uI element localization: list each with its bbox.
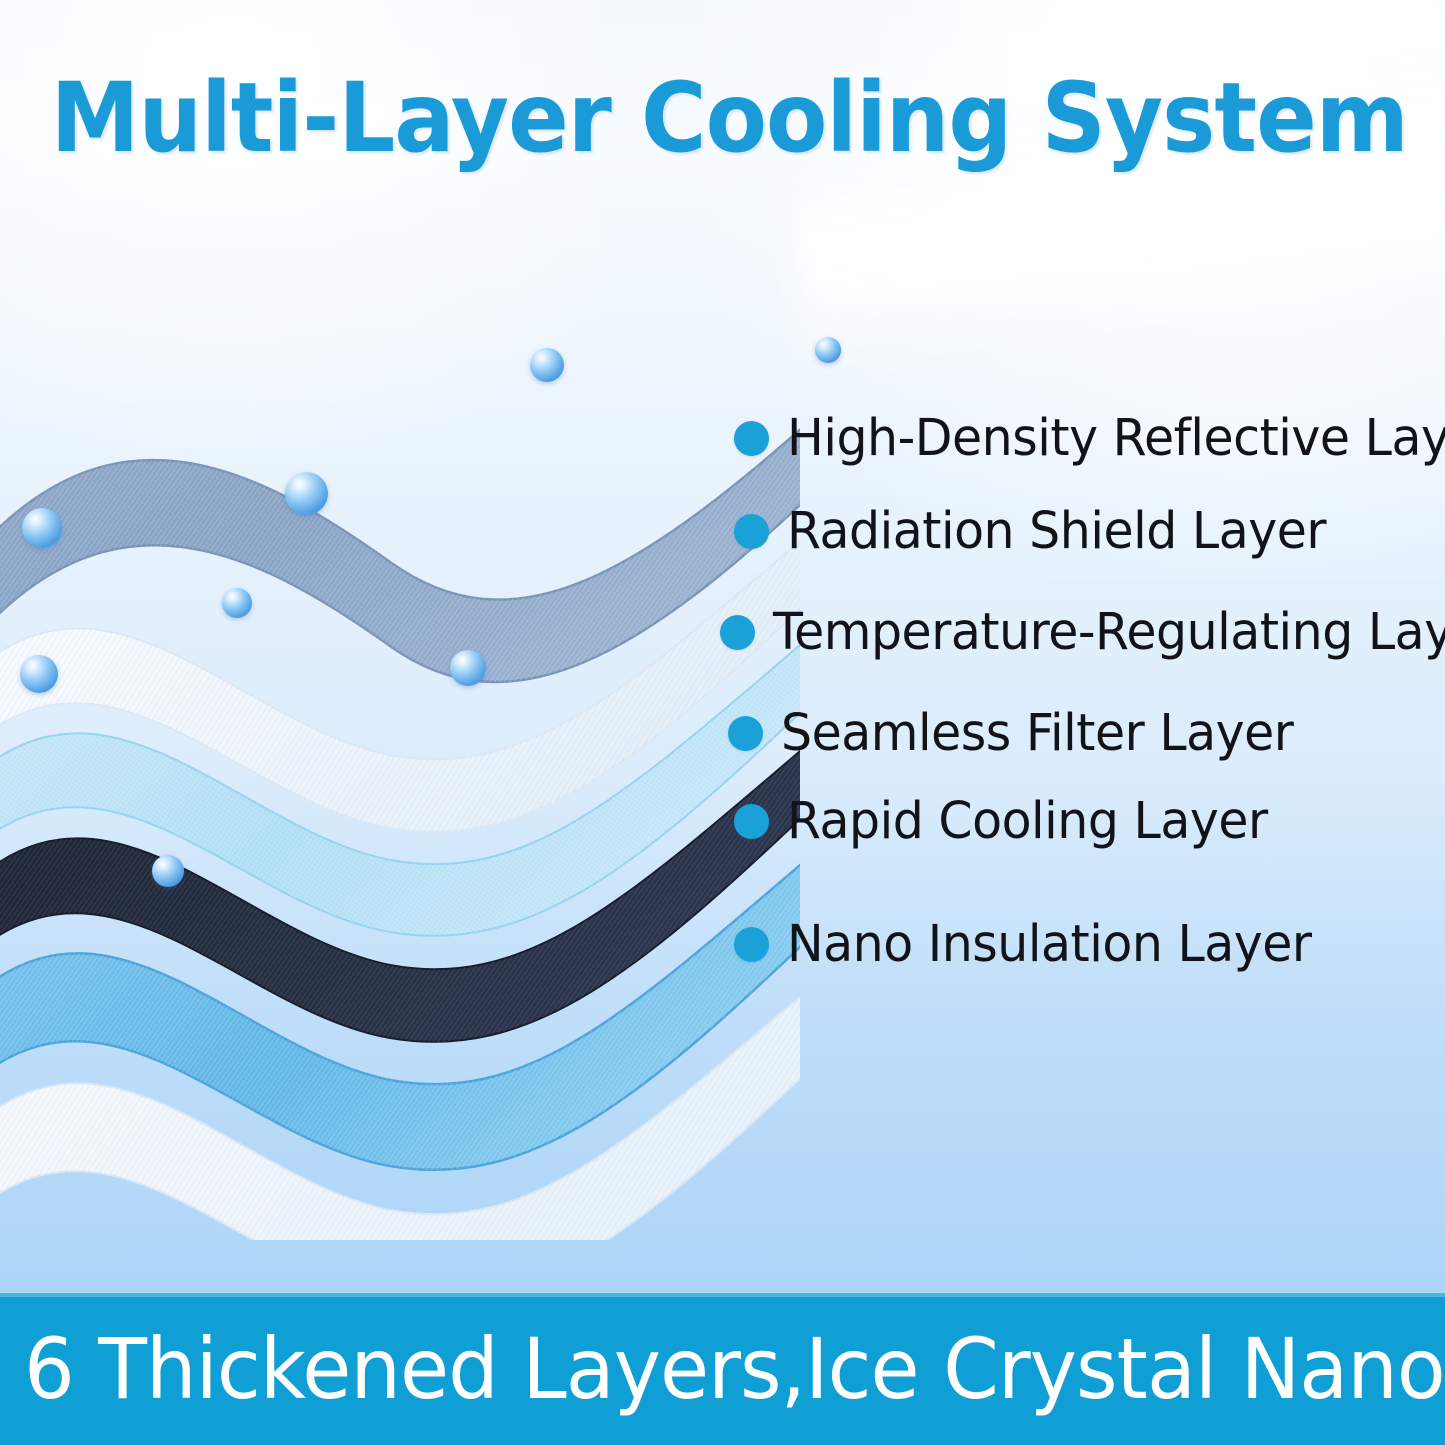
bullet-dot-icon (734, 421, 769, 456)
bullet-dot-icon (734, 804, 769, 839)
water-droplet (20, 655, 58, 693)
bullet-dot-icon (734, 514, 769, 549)
layer-label-item: Radiation Shield Layer (734, 506, 1348, 557)
banner-top-highlight (0, 1293, 1445, 1297)
water-droplet (22, 508, 62, 548)
layer-label-text: Temperature-Regulating Layer (773, 607, 1445, 658)
layer-label-item: Temperature-Regulating Layer (720, 607, 1445, 658)
cooling-system-infographic: Multi-Layer Cooling System (0, 0, 1445, 1445)
water-droplet (530, 348, 564, 382)
banner-text: 6 Thickened Layers,Ice Crystal Nanoh (24, 1327, 1445, 1411)
bullet-dot-icon (728, 716, 763, 751)
water-droplet (450, 650, 486, 686)
layer-label-text: Radiation Shield Layer (787, 506, 1326, 557)
layer-label-text: Rapid Cooling Layer (787, 796, 1268, 847)
fabric-layers-illustration (0, 300, 800, 1240)
water-droplet (222, 588, 252, 618)
bottom-banner: 6 Thickened Layers,Ice Crystal Nanoh (0, 1293, 1445, 1445)
layer-label-item: High-Density Reflective Layer (734, 413, 1445, 464)
layer-label-text: Nano Insulation Layer (787, 919, 1312, 970)
layer-label-text: High-Density Reflective Layer (787, 413, 1445, 464)
layer-label-text: Seamless Filter Layer (781, 708, 1293, 759)
water-droplet (152, 855, 184, 887)
layer-label-item: Seamless Filter Layer (728, 708, 1315, 759)
layer-label-item: Nano Insulation Layer (734, 919, 1333, 970)
layer-label-item: Rapid Cooling Layer (734, 796, 1288, 847)
bullet-dot-icon (734, 927, 769, 962)
bullet-dot-icon (720, 615, 755, 650)
layer-label-list: High-Density Reflective LayerRadiation S… (714, 0, 1445, 1290)
water-droplet (285, 472, 328, 515)
